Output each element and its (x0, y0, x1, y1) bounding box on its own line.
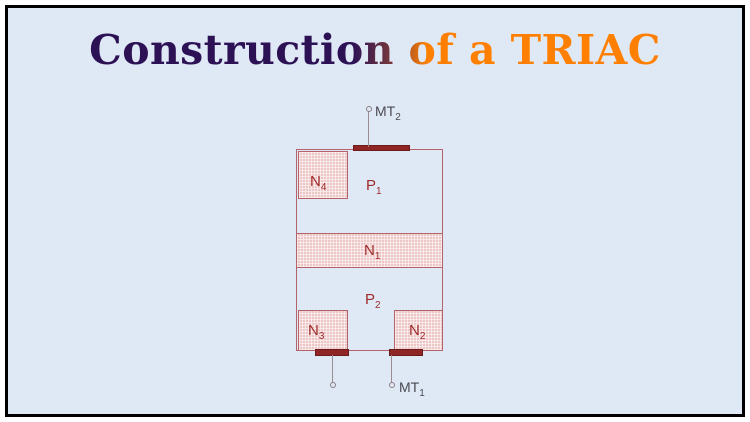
terminal-node-mt2[interactable] (366, 106, 372, 112)
region-label-n3: N3 (308, 323, 324, 342)
layer-label-p1-text: P (366, 177, 376, 194)
contact-mt1 (389, 349, 423, 356)
lead-mt1 (391, 355, 392, 383)
layer-label-n1-text: N (364, 242, 375, 259)
terminal-label-mt1-sub: 1 (419, 388, 425, 399)
slide-frame: Construction of a TRIAC N4 P1 (5, 5, 745, 417)
contact-mt2 (353, 145, 410, 151)
layer-label-n1: N1 (364, 243, 380, 262)
region-label-n2-sub: 2 (420, 331, 426, 342)
region-label-n3-text: N (308, 322, 319, 339)
terminal-label-mt1-text: MT (399, 379, 419, 395)
triac-diagram: N4 P1 N1 P2 N3 N2 (8, 8, 748, 420)
layer-label-p1-sub: 1 (376, 186, 382, 197)
terminal-node-gate[interactable] (330, 382, 336, 388)
region-label-n2-text: N (409, 322, 420, 339)
layer-label-p1: P1 (366, 178, 382, 197)
terminal-label-mt2-text: MT (375, 103, 395, 119)
layer-label-p2-text: P (365, 291, 375, 308)
region-label-n4-sub: 4 (321, 182, 327, 193)
region-label-n4-text: N (310, 173, 321, 190)
layer-label-p2-sub: 2 (375, 300, 381, 311)
terminal-label-mt2: MT2 (375, 104, 401, 123)
layer-label-n1-sub: 1 (375, 251, 381, 262)
terminal-label-mt1: MT1 (399, 380, 425, 399)
region-label-n3-sub: 3 (319, 331, 325, 342)
screenshot-root: Construction of a TRIAC N4 P1 (0, 0, 750, 422)
terminal-label-mt2-sub: 2 (395, 112, 401, 123)
terminal-node-mt1[interactable] (389, 382, 395, 388)
lead-gate (332, 355, 333, 383)
region-label-n2: N2 (409, 323, 425, 342)
region-label-n4: N4 (310, 174, 326, 193)
slide-canvas: Construction of a TRIAC N4 P1 (8, 8, 742, 414)
lead-mt2 (368, 111, 369, 147)
layer-label-p2: P2 (365, 292, 381, 311)
